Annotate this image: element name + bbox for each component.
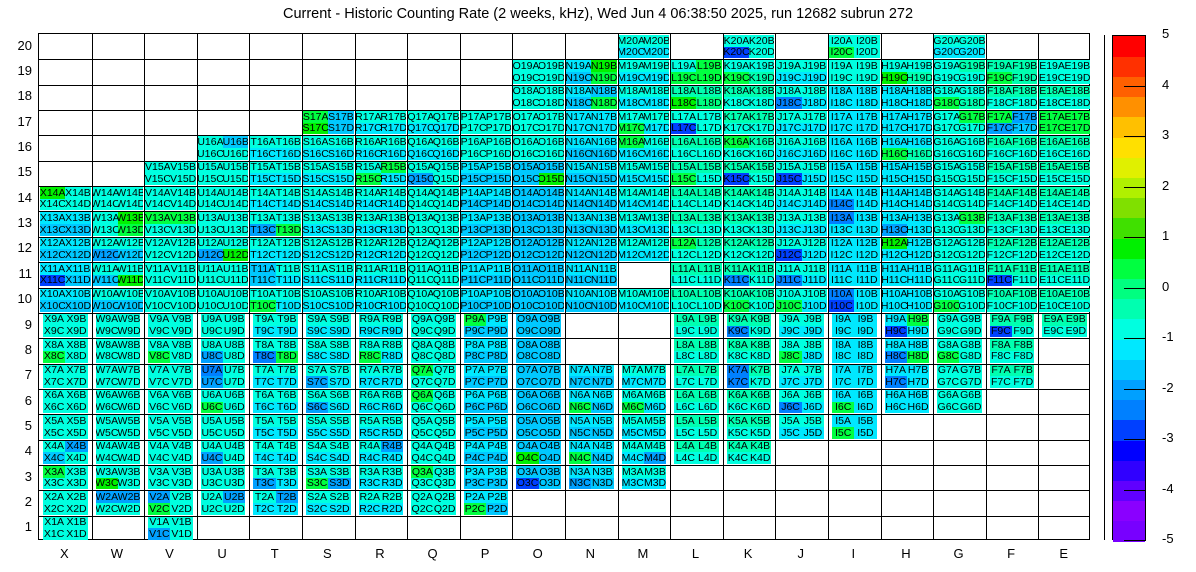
pmt-channel-f10d[interactable]: F10D	[1012, 300, 1037, 312]
supermodule-cell[interactable]: G17AG17BG17CG17D	[933, 110, 986, 135]
pmt-channel-n6b[interactable]: N6B	[591, 390, 613, 402]
pmt-channel-h7d[interactable]: H7D	[907, 376, 929, 388]
pmt-channel-e16b[interactable]: E16B	[1065, 136, 1090, 148]
pmt-channel-e15b[interactable]: E15B	[1065, 162, 1090, 174]
pmt-channel-h13a[interactable]: H13A	[882, 212, 907, 224]
pmt-channel-v1c[interactable]: V1C	[148, 528, 170, 540]
supermodule-cell[interactable]: H6AH6BH6CH6D	[881, 389, 934, 414]
pmt-channel-j10d[interactable]: J10D	[802, 300, 827, 312]
supermodule-cell[interactable]: Q3AQ3BQ3CQ3D	[407, 465, 460, 490]
pmt-channel-o16c[interactable]: O16C	[513, 148, 538, 160]
pmt-channel-v5b[interactable]: V5B	[170, 415, 192, 427]
pmt-channel-u15d[interactable]: U15D	[223, 173, 248, 185]
supermodule-cell[interactable]: R16AR16BR16CR16D	[355, 135, 408, 160]
pmt-channel-j19c[interactable]: J19C	[776, 72, 801, 84]
pmt-channel-f13c[interactable]: F13C	[987, 224, 1012, 236]
pmt-channel-h16d[interactable]: H16D	[907, 148, 932, 160]
pmt-channel-g17c[interactable]: G17C	[934, 123, 959, 135]
supermodule-cell[interactable]: Q11AQ11BQ11CQ11D	[407, 262, 460, 287]
pmt-channel-p5b[interactable]: P5B	[486, 415, 508, 427]
pmt-channel-p6c[interactable]: P6C	[464, 402, 486, 414]
pmt-channel-x7c[interactable]: X7C	[43, 376, 65, 388]
pmt-channel-o14a[interactable]: O14A	[513, 187, 538, 199]
pmt-channel-j10c[interactable]: J10C	[776, 300, 801, 312]
pmt-channel-n15b[interactable]: N15B	[591, 162, 616, 174]
pmt-channel-i16b[interactable]: I16B	[854, 136, 879, 148]
pmt-channel-h9b[interactable]: H9B	[907, 314, 929, 326]
pmt-channel-p15b[interactable]: P15B	[486, 162, 511, 174]
pmt-channel-u15c[interactable]: U15C	[198, 173, 223, 185]
pmt-channel-f18c[interactable]: F18C	[987, 97, 1012, 109]
pmt-channel-x3a[interactable]: X3A	[43, 466, 65, 478]
pmt-channel-h19d[interactable]: H19D	[907, 72, 932, 84]
pmt-channel-h11a[interactable]: H11A	[882, 263, 907, 275]
supermodule-cell[interactable]: F7AF7BF7CF7D	[986, 364, 1039, 389]
pmt-channel-g7a[interactable]: G7A	[937, 365, 959, 377]
pmt-channel-m18b[interactable]: M18B	[644, 86, 669, 98]
pmt-channel-s8d[interactable]: S8D	[328, 351, 350, 363]
pmt-channel-i16a[interactable]: I16A	[829, 136, 854, 148]
pmt-channel-f12a[interactable]: F12A	[987, 238, 1012, 250]
pmt-channel-m3b[interactable]: M3B	[644, 466, 666, 478]
pmt-channel-o4b[interactable]: O4B	[539, 441, 561, 453]
pmt-channel-w6b[interactable]: W6B	[118, 390, 140, 402]
pmt-channel-l8b[interactable]: L8B	[696, 339, 718, 351]
pmt-channel-f15d[interactable]: F15D	[1012, 173, 1037, 185]
pmt-channel-s15d[interactable]: S15D	[328, 173, 353, 185]
pmt-channel-r17d[interactable]: R17D	[381, 123, 406, 135]
pmt-channel-h15b[interactable]: H15B	[907, 162, 932, 174]
pmt-channel-g18a[interactable]: G18A	[934, 86, 959, 98]
supermodule-cell[interactable]: K12AK12BK12CK12D	[723, 237, 776, 262]
pmt-channel-l10d[interactable]: L10D	[696, 300, 721, 312]
pmt-channel-g8b[interactable]: G8B	[959, 339, 981, 351]
pmt-channel-g20c[interactable]: G20C	[934, 47, 959, 59]
pmt-channel-h11b[interactable]: H11B	[907, 263, 932, 275]
supermodule-cell[interactable]: L15AL15BL15CL15D	[670, 161, 723, 186]
supermodule-cell[interactable]: L18AL18BL18CL18D	[670, 85, 723, 110]
pmt-channel-l19d[interactable]: L19D	[696, 72, 721, 84]
pmt-channel-l18b[interactable]: L18B	[696, 86, 721, 98]
pmt-channel-q3a[interactable]: Q3A	[411, 466, 433, 478]
pmt-channel-i6b[interactable]: I6B	[854, 390, 876, 402]
pmt-channel-j14a[interactable]: J14A	[776, 187, 801, 199]
pmt-channel-q15a[interactable]: Q15A	[408, 162, 433, 174]
pmt-channel-h7b[interactable]: H7B	[907, 365, 929, 377]
pmt-channel-x13a[interactable]: X13A	[40, 212, 65, 224]
pmt-channel-l4d[interactable]: L4D	[696, 452, 718, 464]
supermodule-cell[interactable]: V4AV4BV4CV4D	[144, 440, 197, 465]
pmt-channel-w7b[interactable]: W7B	[118, 365, 140, 377]
pmt-channel-k13d[interactable]: K13D	[749, 224, 774, 236]
supermodule-cell[interactable]: P14AP14BP14CP14D	[460, 186, 513, 211]
supermodule-cell[interactable]: L8AL8BL8CL8D	[670, 338, 723, 363]
pmt-channel-i11a[interactable]: I11A	[829, 263, 854, 275]
pmt-channel-o18c[interactable]: O18C	[513, 97, 538, 109]
pmt-channel-f19a[interactable]: F19A	[987, 60, 1012, 72]
pmt-channel-u11c[interactable]: U11C	[198, 275, 223, 287]
pmt-channel-r9b[interactable]: R9B	[381, 314, 403, 326]
pmt-channel-l8d[interactable]: L8D	[696, 351, 718, 363]
supermodule-cell[interactable]: I17AI17BI17CI17D	[828, 110, 881, 135]
pmt-channel-i7d[interactable]: I7D	[854, 376, 876, 388]
pmt-channel-p15c[interactable]: P15C	[461, 173, 486, 185]
supermodule-cell[interactable]: V13AV13BV13CV13D	[144, 211, 197, 236]
supermodule-cell[interactable]: Q7AQ7BQ7CQ7D	[407, 364, 460, 389]
supermodule-cell[interactable]: K18AK18BK18CK18D	[723, 85, 776, 110]
pmt-channel-o3a[interactable]: O3A	[516, 466, 538, 478]
pmt-channel-n5a[interactable]: N5A	[569, 415, 591, 427]
pmt-channel-w7a[interactable]: W7A	[96, 365, 118, 377]
supermodule-cell[interactable]: S5AS5BS5CS5D	[302, 414, 355, 439]
pmt-channel-j19d[interactable]: J19D	[802, 72, 827, 84]
pmt-channel-q5a[interactable]: Q5A	[411, 415, 433, 427]
supermodule-cell[interactable]: O7AO7BO7CO7D	[512, 364, 565, 389]
pmt-channel-r16d[interactable]: R16D	[381, 148, 406, 160]
pmt-channel-g14d[interactable]: G14D	[959, 199, 984, 211]
pmt-channel-u6a[interactable]: U6A	[201, 390, 223, 402]
pmt-channel-i17d[interactable]: I17D	[854, 123, 879, 135]
supermodule-cell[interactable]: P8AP8BP8CP8D	[460, 338, 513, 363]
pmt-channel-t8c[interactable]: T8C	[253, 351, 275, 363]
pmt-channel-s2d[interactable]: S2D	[328, 503, 350, 515]
pmt-channel-u2b[interactable]: U2B	[223, 491, 245, 503]
pmt-channel-x2d[interactable]: X2D	[65, 503, 87, 515]
pmt-channel-k8c[interactable]: K8C	[727, 351, 749, 363]
pmt-channel-q10d[interactable]: Q10D	[433, 300, 458, 312]
pmt-channel-x4c[interactable]: X4C	[43, 452, 65, 464]
pmt-channel-s7a[interactable]: S7A	[306, 365, 328, 377]
pmt-channel-k10d[interactable]: K10D	[749, 300, 774, 312]
pmt-channel-o5b[interactable]: O5B	[539, 415, 561, 427]
pmt-channel-q6a[interactable]: Q6A	[411, 390, 433, 402]
supermodule-cell[interactable]: I13AI13BI13CI13D	[828, 211, 881, 236]
pmt-channel-e9d[interactable]: E9D	[1065, 326, 1087, 338]
pmt-channel-s5c[interactable]: S5C	[306, 427, 328, 439]
pmt-channel-q3d[interactable]: Q3D	[433, 478, 455, 490]
pmt-channel-r13d[interactable]: R13D	[381, 224, 406, 236]
pmt-channel-n16b[interactable]: N16B	[591, 136, 616, 148]
pmt-channel-u16b[interactable]: U16B	[223, 136, 248, 148]
pmt-channel-x1a[interactable]: X1A	[43, 517, 65, 529]
pmt-channel-m10c[interactable]: M10C	[619, 300, 644, 312]
supermodule-cell[interactable]: M16AM16BM16CM16D	[618, 135, 671, 160]
pmt-channel-x2a[interactable]: X2A	[43, 491, 65, 503]
supermodule-cell[interactable]: E19AE19BE19CE19D	[1038, 59, 1091, 84]
pmt-channel-w10a[interactable]: W10A	[93, 289, 118, 301]
pmt-channel-j6b[interactable]: J6B	[802, 390, 824, 402]
pmt-channel-j15a[interactable]: J15A	[776, 162, 801, 174]
pmt-channel-i15c[interactable]: I15C	[829, 173, 854, 185]
pmt-channel-t15d[interactable]: T15D	[276, 173, 301, 185]
pmt-channel-h9d[interactable]: H9D	[907, 326, 929, 338]
pmt-channel-r2c[interactable]: R2C	[359, 503, 381, 515]
pmt-channel-q15d[interactable]: Q15D	[433, 173, 458, 185]
pmt-channel-g14c[interactable]: G14C	[934, 199, 959, 211]
pmt-channel-s16c[interactable]: S16C	[303, 148, 328, 160]
pmt-channel-p2b[interactable]: P2B	[486, 491, 508, 503]
supermodule-cell[interactable]: O5AO5BO5CO5D	[512, 414, 565, 439]
pmt-channel-m4c[interactable]: M4C	[622, 452, 644, 464]
pmt-channel-k19a[interactable]: K19A	[724, 60, 749, 72]
pmt-channel-m15c[interactable]: M15C	[619, 173, 644, 185]
pmt-channel-q17a[interactable]: Q17A	[408, 111, 433, 123]
supermodule-cell[interactable]: I5AI5BI5CI5D	[828, 414, 881, 439]
supermodule-cell[interactable]: K4AK4BK4CK4D	[723, 440, 776, 465]
pmt-channel-x7a[interactable]: X7A	[43, 365, 65, 377]
pmt-channel-n17c[interactable]: N17C	[566, 123, 591, 135]
pmt-channel-k9b[interactable]: K9B	[749, 314, 771, 326]
pmt-channel-v10b[interactable]: V10B	[170, 289, 195, 301]
supermodule-cell[interactable]: S6AS6BS6CS6D	[302, 389, 355, 414]
pmt-channel-k15c[interactable]: K15C	[724, 173, 749, 185]
pmt-channel-i15a[interactable]: I15A	[829, 162, 854, 174]
pmt-channel-h14a[interactable]: H14A	[882, 187, 907, 199]
pmt-channel-e16a[interactable]: E16A	[1039, 136, 1064, 148]
pmt-channel-k5a[interactable]: K5A	[727, 415, 749, 427]
supermodule-cell[interactable]: R7AR7BR7CR7D	[355, 364, 408, 389]
pmt-channel-j12d[interactable]: J12D	[802, 249, 827, 261]
supermodule-cell[interactable]: K16AK16BK16CK16D	[723, 135, 776, 160]
pmt-channel-o13b[interactable]: O13B	[539, 212, 564, 224]
supermodule-cell[interactable]: R6AR6BR6CR6D	[355, 389, 408, 414]
pmt-channel-q5d[interactable]: Q5D	[433, 427, 455, 439]
pmt-channel-e14d[interactable]: E14D	[1065, 199, 1090, 211]
pmt-channel-p3d[interactable]: P3D	[486, 478, 508, 490]
pmt-channel-s12a[interactable]: S12A	[303, 238, 328, 250]
pmt-channel-o18a[interactable]: O18A	[513, 86, 538, 98]
pmt-channel-m7d[interactable]: M7D	[644, 376, 666, 388]
pmt-channel-k5c[interactable]: K5C	[727, 427, 749, 439]
supermodule-cell[interactable]: L11AL11BL11CL11D	[670, 262, 723, 287]
supermodule-cell[interactable]: J18AJ18BJ18CJ18D	[775, 85, 828, 110]
pmt-channel-v8b[interactable]: V8B	[170, 339, 192, 351]
pmt-channel-q13d[interactable]: Q13D	[433, 224, 458, 236]
pmt-channel-u9d[interactable]: U9D	[223, 326, 245, 338]
pmt-channel-j6d[interactable]: J6D	[802, 402, 824, 414]
pmt-channel-q9d[interactable]: Q9D	[433, 326, 455, 338]
supermodule-cell[interactable]: P7AP7BP7CP7D	[460, 364, 513, 389]
pmt-channel-o16a[interactable]: O16A	[513, 136, 538, 148]
pmt-channel-g11d[interactable]: G11D	[959, 275, 984, 287]
pmt-channel-s6d[interactable]: S6D	[328, 402, 350, 414]
supermodule-cell[interactable]: J14AJ14BJ14CJ14D	[775, 186, 828, 211]
pmt-channel-q12d[interactable]: Q12D	[433, 249, 458, 261]
pmt-channel-k7a[interactable]: K7A	[727, 365, 749, 377]
supermodule-cell[interactable]: O14AO14BO14CO14D	[512, 186, 565, 211]
pmt-channel-h16b[interactable]: H16B	[907, 136, 932, 148]
pmt-channel-i16c[interactable]: I16C	[829, 148, 854, 160]
pmt-channel-n18a[interactable]: N18A	[566, 86, 591, 98]
pmt-channel-x14b[interactable]: X14B	[65, 187, 90, 199]
pmt-channel-m19c[interactable]: M19C	[619, 72, 644, 84]
pmt-channel-i8c[interactable]: I8C	[832, 351, 854, 363]
pmt-channel-s15a[interactable]: S15A	[303, 162, 328, 174]
pmt-channel-i20b[interactable]: I20B	[854, 35, 879, 47]
pmt-channel-i12c[interactable]: I12C	[829, 249, 854, 261]
pmt-channel-n18b[interactable]: N18B	[591, 86, 616, 98]
pmt-channel-q4c[interactable]: Q4C	[411, 452, 433, 464]
supermodule-cell[interactable]: S16AS16BS16CS16D	[302, 135, 355, 160]
pmt-channel-v10a[interactable]: V10A	[145, 289, 170, 301]
supermodule-cell[interactable]: T15AT15BT15CT15D	[249, 161, 302, 186]
pmt-channel-u16a[interactable]: U16A	[198, 136, 223, 148]
pmt-channel-r15b[interactable]: R15B	[381, 162, 406, 174]
pmt-channel-w13a[interactable]: W13A	[93, 212, 118, 224]
pmt-channel-q11c[interactable]: Q11C	[408, 275, 433, 287]
pmt-channel-r12b[interactable]: R12B	[381, 238, 406, 250]
supermodule-cell[interactable]: X11AX11BX11CX11D	[39, 262, 92, 287]
pmt-channel-r6b[interactable]: R6B	[381, 390, 403, 402]
pmt-channel-n17a[interactable]: N17A	[566, 111, 591, 123]
supermodule-cell[interactable]: O12AO12BO12CO12D	[512, 237, 565, 262]
supermodule-cell[interactable]: G7AG7BG7CG7D	[933, 364, 986, 389]
pmt-channel-t8a[interactable]: T8A	[253, 339, 275, 351]
pmt-channel-g17a[interactable]: G17A	[934, 111, 959, 123]
pmt-channel-g20d[interactable]: G20D	[959, 47, 984, 59]
pmt-channel-q10b[interactable]: Q10B	[433, 289, 458, 301]
pmt-channel-k15b[interactable]: K15B	[749, 162, 774, 174]
pmt-channel-t5c[interactable]: T5C	[253, 427, 275, 439]
supermodule-cell[interactable]: E13AE13BE13CE13D	[1038, 211, 1091, 236]
pmt-channel-h15d[interactable]: H15D	[907, 173, 932, 185]
pmt-channel-s8b[interactable]: S8B	[328, 339, 350, 351]
supermodule-cell[interactable]: H10AH10BH10CH10D	[881, 288, 934, 313]
pmt-channel-t6c[interactable]: T6C	[253, 402, 275, 414]
pmt-channel-f17d[interactable]: F17D	[1012, 123, 1037, 135]
pmt-channel-k12a[interactable]: K12A	[724, 238, 749, 250]
pmt-channel-u6d[interactable]: U6D	[223, 402, 245, 414]
pmt-channel-e16d[interactable]: E16D	[1065, 148, 1090, 160]
pmt-channel-m10b[interactable]: M10B	[644, 289, 669, 301]
pmt-channel-f9c[interactable]: F9C	[990, 326, 1012, 338]
pmt-channel-p12b[interactable]: P12B	[486, 238, 511, 250]
pmt-channel-p16a[interactable]: P16A	[461, 136, 486, 148]
supermodule-cell[interactable]: K19AK19BK19CK19D	[723, 59, 776, 84]
pmt-channel-p15a[interactable]: P15A	[461, 162, 486, 174]
pmt-channel-t3c[interactable]: T3C	[253, 478, 275, 490]
pmt-channel-i7b[interactable]: I7B	[854, 365, 876, 377]
pmt-channel-l4c[interactable]: L4C	[674, 452, 696, 464]
pmt-channel-l8c[interactable]: L8C	[674, 351, 696, 363]
pmt-channel-n4d[interactable]: N4D	[591, 452, 613, 464]
pmt-channel-m3c[interactable]: M3C	[622, 478, 644, 490]
pmt-channel-k7b[interactable]: K7B	[749, 365, 771, 377]
pmt-channel-o17c[interactable]: O17C	[513, 123, 538, 135]
pmt-channel-w5a[interactable]: W5A	[96, 415, 118, 427]
pmt-channel-o4d[interactable]: O4D	[539, 452, 561, 464]
pmt-channel-m17d[interactable]: M17D	[644, 123, 669, 135]
pmt-channel-s14a[interactable]: S14A	[303, 187, 328, 199]
supermodule-cell[interactable]: V1AV1BV1CV1D	[144, 516, 197, 541]
pmt-channel-x1c[interactable]: X1C	[43, 528, 65, 540]
pmt-channel-l9b[interactable]: L9B	[696, 314, 718, 326]
supermodule-cell[interactable]: K20AK20BK20CK20D	[723, 34, 776, 59]
supermodule-cell[interactable]: H12AH12BH12CH12D	[881, 237, 934, 262]
pmt-channel-m3d[interactable]: M3D	[644, 478, 666, 490]
supermodule-cell[interactable]: O11AO11BO11CO11D	[512, 262, 565, 287]
pmt-channel-n14c[interactable]: N14C	[566, 199, 591, 211]
supermodule-cell[interactable]: G6AG6BG6CG6D	[933, 389, 986, 414]
pmt-channel-h18b[interactable]: H18B	[907, 86, 932, 98]
supermodule-cell[interactable]: G18AG18BG18CG18D	[933, 85, 986, 110]
pmt-channel-p4b[interactable]: P4B	[486, 441, 508, 453]
pmt-channel-x1b[interactable]: X1B	[65, 517, 87, 529]
pmt-channel-v10d[interactable]: V10D	[170, 300, 195, 312]
pmt-channel-q9c[interactable]: Q9C	[411, 326, 433, 338]
supermodule-cell[interactable]: T5AT5BT5CT5D	[249, 414, 302, 439]
pmt-channel-x8a[interactable]: X8A	[43, 339, 65, 351]
pmt-channel-t2b[interactable]: T2B	[276, 491, 298, 503]
pmt-channel-f14b[interactable]: F14B	[1012, 187, 1037, 199]
pmt-channel-t12d[interactable]: T12D	[276, 249, 301, 261]
pmt-channel-v11b[interactable]: V11B	[170, 263, 195, 275]
supermodule-cell[interactable]: G9AG9BG9CG9D	[933, 313, 986, 338]
pmt-channel-w6d[interactable]: W6D	[118, 402, 140, 414]
pmt-channel-g16d[interactable]: G16D	[959, 148, 984, 160]
pmt-channel-s13a[interactable]: S13A	[303, 212, 328, 224]
supermodule-cell[interactable]: M13AM13BM13CM13D	[618, 211, 671, 236]
pmt-channel-v6a[interactable]: V6A	[148, 390, 170, 402]
pmt-channel-u5a[interactable]: U5A	[201, 415, 223, 427]
pmt-channel-r9c[interactable]: R9C	[359, 326, 381, 338]
pmt-channel-f16d[interactable]: F16D	[1012, 148, 1037, 160]
pmt-channel-t11d[interactable]: T11D	[276, 275, 301, 287]
pmt-channel-r12d[interactable]: R12D	[381, 249, 406, 261]
pmt-channel-g13d[interactable]: G13D	[959, 224, 984, 236]
pmt-channel-j6c[interactable]: J6C	[779, 402, 801, 414]
pmt-channel-l12d[interactable]: L12D	[696, 249, 721, 261]
pmt-channel-h12a[interactable]: H12A	[882, 238, 907, 250]
pmt-channel-r14a[interactable]: R14A	[356, 187, 381, 199]
supermodule-cell[interactable]: I16AI16BI16CI16D	[828, 135, 881, 160]
pmt-channel-r14b[interactable]: R14B	[381, 187, 406, 199]
pmt-channel-m20d[interactable]: M20D	[644, 47, 669, 59]
pmt-channel-l15c[interactable]: L15C	[671, 173, 696, 185]
pmt-channel-l14c[interactable]: L14C	[671, 199, 696, 211]
pmt-channel-x10b[interactable]: X10B	[65, 289, 90, 301]
supermodule-cell[interactable]: G13AG13BG13CG13D	[933, 211, 986, 236]
pmt-channel-v3b[interactable]: V3B	[170, 466, 192, 478]
pmt-channel-r7b[interactable]: R7B	[381, 365, 403, 377]
pmt-channel-r6d[interactable]: R6D	[381, 402, 403, 414]
pmt-channel-l11b[interactable]: L11B	[696, 263, 721, 275]
pmt-channel-q4a[interactable]: Q4A	[411, 441, 433, 453]
pmt-channel-g18b[interactable]: G18B	[959, 86, 984, 98]
supermodule-cell[interactable]: X7AX7BX7CX7D	[39, 364, 92, 389]
supermodule-cell[interactable]: S13AS13BS13CS13D	[302, 211, 355, 236]
pmt-channel-q11a[interactable]: Q11A	[408, 263, 433, 275]
pmt-channel-s10d[interactable]: S10D	[328, 300, 353, 312]
pmt-channel-k12b[interactable]: K12B	[749, 238, 774, 250]
pmt-channel-k9a[interactable]: K9A	[727, 314, 749, 326]
pmt-channel-w12d[interactable]: W12D	[118, 249, 143, 261]
pmt-channel-l11a[interactable]: L11A	[671, 263, 696, 275]
pmt-channel-g11c[interactable]: G11C	[934, 275, 959, 287]
pmt-channel-u2d[interactable]: U2D	[223, 503, 245, 515]
pmt-channel-m14d[interactable]: M14D	[644, 199, 669, 211]
pmt-channel-r2d[interactable]: R2D	[381, 503, 403, 515]
pmt-channel-q8b[interactable]: Q8B	[433, 339, 455, 351]
pmt-channel-n19a[interactable]: N19A	[566, 60, 591, 72]
pmt-channel-t5d[interactable]: T5D	[276, 427, 298, 439]
pmt-channel-l5d[interactable]: L5D	[696, 427, 718, 439]
pmt-channel-k5b[interactable]: K5B	[749, 415, 771, 427]
pmt-channel-n13b[interactable]: N13B	[591, 212, 616, 224]
pmt-channel-n6a[interactable]: N6A	[569, 390, 591, 402]
pmt-channel-o14b[interactable]: O14B	[539, 187, 564, 199]
pmt-channel-u14a[interactable]: U14A	[198, 187, 223, 199]
